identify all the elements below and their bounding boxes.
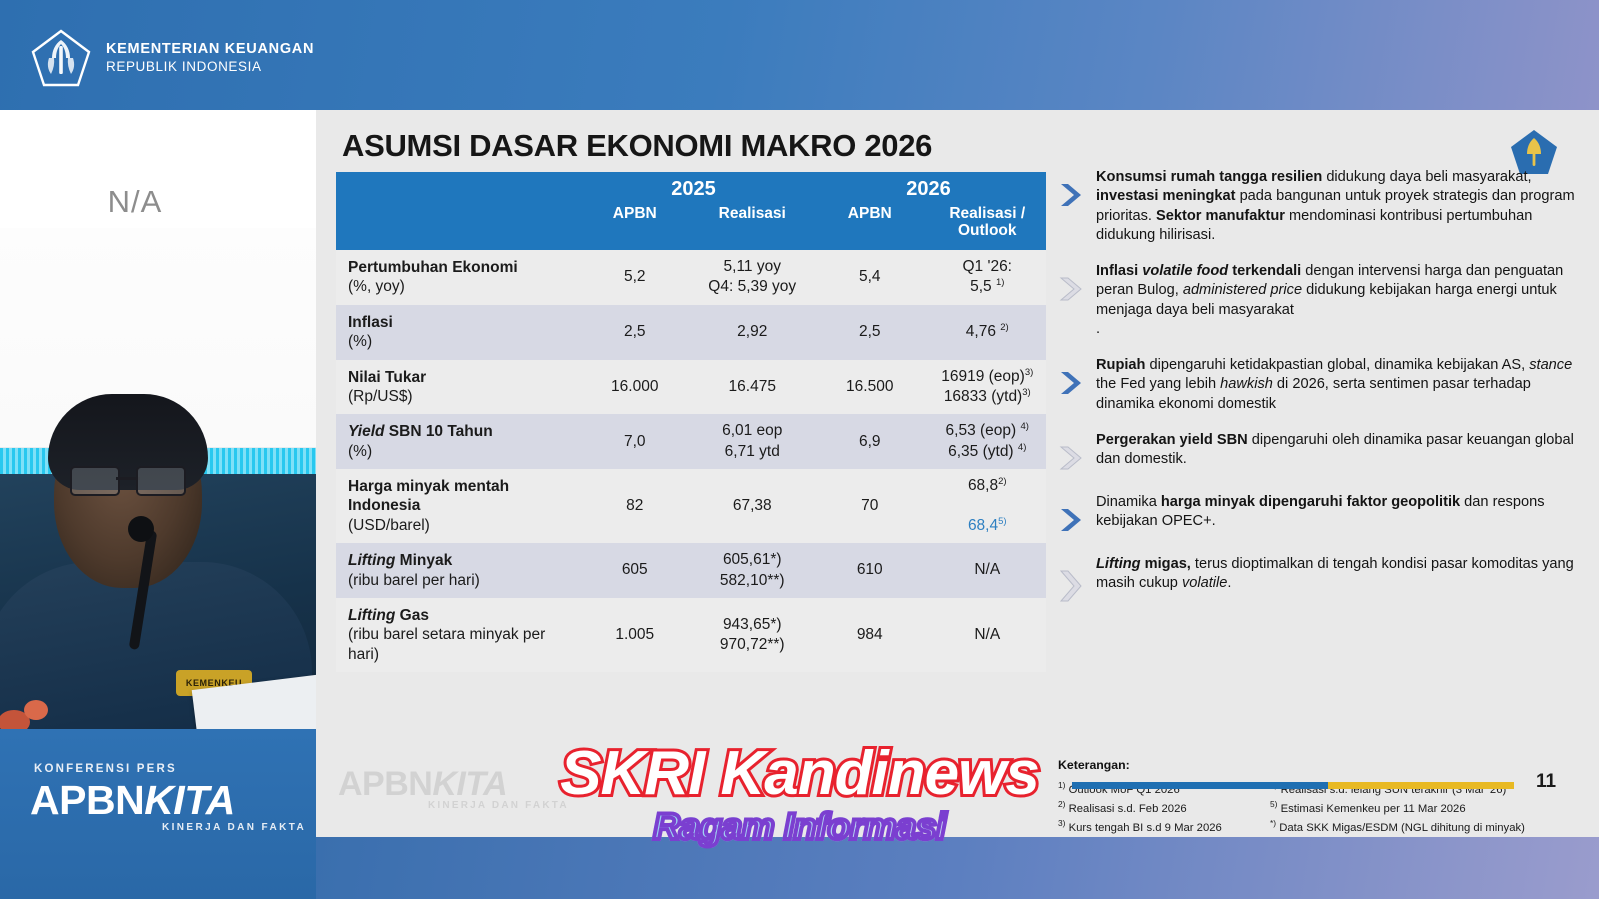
- row-label: Lifting Gas(ribu barel setara minyak per…: [336, 598, 576, 672]
- table-row: Yield SBN 10 Tahun(%) 7,0 6,01 eop6,71 y…: [336, 414, 1046, 469]
- list-item-text: Konsumsi rumah tangga resilien didukung …: [1096, 168, 1578, 245]
- ministry-country: REPUBLIK INDONESIA: [106, 59, 314, 75]
- group-header-2025: 2025: [576, 178, 811, 201]
- chevron-right-icon: [1058, 262, 1086, 339]
- group-header-2026: 2026: [811, 178, 1046, 201]
- list-item: Inflasi volatile food terkendali dengan …: [1058, 262, 1578, 339]
- table-row: Lifting Minyak(ribu barel per hari) 605 …: [336, 543, 1046, 598]
- list-item: Pergerakan yield SBN dipengaruhi oleh di…: [1058, 431, 1578, 476]
- macro-assumptions-table: 2025 APBN Realisasi 2026 APBN Realisasi …: [336, 172, 1046, 672]
- chevron-right-icon: [1058, 431, 1086, 476]
- cell-apbn-2025: 5,2: [576, 267, 694, 287]
- cell-realisasi-2025: 605,61*)582,10**): [694, 550, 812, 590]
- top-banner: KEMENTERIAN KEUANGAN REPUBLIK INDONESIA: [0, 0, 1599, 110]
- cell-apbn-2026: 2,5: [811, 322, 929, 342]
- subheader-outlook-2026: Realisasi /Outlook: [929, 205, 1047, 240]
- screen: KEMENTERIAN KEUANGAN REPUBLIK INDONESIA …: [0, 0, 1599, 899]
- cell-apbn-2025: 16.000: [576, 377, 694, 397]
- cell-apbn-2026: 984: [811, 625, 929, 645]
- cell-outlook-2026: 16919 (eop)3)16833 (ytd)3): [929, 367, 1047, 408]
- ministry-name: KEMENTERIAN KEUANGAN: [106, 41, 314, 59]
- subheader-apbn-2026: APBN: [811, 205, 929, 240]
- chevron-right-icon: [1058, 356, 1086, 414]
- channel-watermark-primary: SKRI Kandinews: [0, 738, 1599, 809]
- cell-apbn-2025: 605: [576, 560, 694, 580]
- list-item-text: Inflasi volatile food terkendali dengan …: [1096, 262, 1578, 339]
- channel-watermark-secondary: Ragam Informasi: [0, 806, 1599, 848]
- cell-apbn-2026: 6,9: [811, 432, 929, 452]
- cell-apbn-2025: 1.005: [576, 625, 694, 645]
- cell-apbn-2026: 610: [811, 560, 929, 580]
- ministry-lockup: KEMENTERIAN KEUANGAN REPUBLIK INDONESIA: [30, 28, 314, 88]
- microphone-head: [128, 516, 154, 542]
- table-row: Inflasi(%) 2,5 2,92 2,5 4,76 2): [336, 305, 1046, 360]
- cell-apbn-2025: 2,5: [576, 322, 694, 342]
- table-row: Pertumbuhan Ekonomi(%, yoy) 5,2 5,11 yoy…: [336, 250, 1046, 305]
- cell-realisasi-2025: 67,38: [694, 496, 812, 516]
- row-label: Inflasi(%): [336, 305, 576, 360]
- subheader-apbn-2025: APBN: [576, 205, 694, 222]
- row-label: Yield SBN 10 Tahun(%): [336, 414, 576, 469]
- list-item-text: Lifting migas, terus dioptimalkan di ten…: [1096, 555, 1578, 608]
- list-item: Dinamika harga minyak dipengaruhi faktor…: [1058, 493, 1578, 538]
- chevron-right-icon: [1058, 493, 1086, 538]
- speaker-glasses: [70, 466, 186, 492]
- cell-outlook-2026: Q1 '26:5,5 1): [929, 257, 1047, 297]
- chevron-right-icon: [1058, 168, 1086, 245]
- video-na-label: N/A: [0, 184, 270, 220]
- cell-realisasi-2025: 943,65*)970,72**): [694, 615, 812, 655]
- row-label: Pertumbuhan Ekonomi(%, yoy): [336, 250, 576, 305]
- cell-apbn-2025: 7,0: [576, 432, 694, 452]
- list-item: Lifting migas, terus dioptimalkan di ten…: [1058, 555, 1578, 608]
- cell-outlook-2026: N/A: [929, 625, 1047, 645]
- cell-apbn-2026: 5,4: [811, 267, 929, 287]
- list-item-text: Pergerakan yield SBN dipengaruhi oleh di…: [1096, 431, 1578, 476]
- cell-outlook-2026: 4,76 2): [929, 322, 1047, 342]
- cell-outlook-2026: 68,82)68,45): [929, 476, 1047, 537]
- speaker-video: N/A KEMENKEU BOSCH: [0, 110, 316, 837]
- presentation-slide: ASUMSI DASAR EKONOMI MAKRO 2026 2025 APB…: [316, 110, 1599, 837]
- list-item: Konsumsi rumah tangga resilien didukung …: [1058, 168, 1578, 245]
- table-row: Harga minyak mentahIndonesia(USD/barel) …: [336, 469, 1046, 543]
- table-header: 2025 APBN Realisasi 2026 APBN Realisasi …: [336, 172, 1046, 250]
- cell-realisasi-2025: 2,92: [694, 322, 812, 342]
- cell-apbn-2026: 70: [811, 496, 929, 516]
- cell-realisasi-2025: 6,01 eop6,71 ytd: [694, 421, 812, 461]
- list-item-text: Dinamika harga minyak dipengaruhi faktor…: [1096, 493, 1578, 538]
- subheader-realisasi-2025: Realisasi: [694, 205, 812, 222]
- row-label: Nilai Tukar(Rp/US$): [336, 360, 576, 415]
- list-item-text: Rupiah dipengaruhi ketidakpastian global…: [1096, 356, 1578, 414]
- insights-list: Konsumsi rumah tangga resilien didukung …: [1058, 168, 1578, 625]
- row-label: Lifting Minyak(ribu barel per hari): [336, 543, 576, 598]
- list-item: Rupiah dipengaruhi ketidakpastian global…: [1058, 356, 1578, 414]
- cell-realisasi-2025: 5,11 yoyQ4: 5,39 yoy: [694, 257, 812, 297]
- page-title: ASUMSI DASAR EKONOMI MAKRO 2026: [342, 128, 932, 164]
- row-label: Harga minyak mentahIndonesia(USD/barel): [336, 469, 576, 543]
- garuda-pentagon-icon: [30, 28, 92, 88]
- cell-apbn-2025: 82: [576, 496, 694, 516]
- table-row: Lifting Gas(ribu barel setara minyak per…: [336, 598, 1046, 672]
- cell-outlook-2026: 6,53 (eop) 4)6,35 (ytd) 4): [929, 421, 1047, 462]
- cell-apbn-2026: 16.500: [811, 377, 929, 397]
- cell-outlook-2026: N/A: [929, 560, 1047, 580]
- cell-realisasi-2025: 16.475: [694, 377, 812, 397]
- chevron-right-icon: [1058, 555, 1086, 608]
- table-row: Nilai Tukar(Rp/US$) 16.000 16.475 16.500…: [336, 360, 1046, 415]
